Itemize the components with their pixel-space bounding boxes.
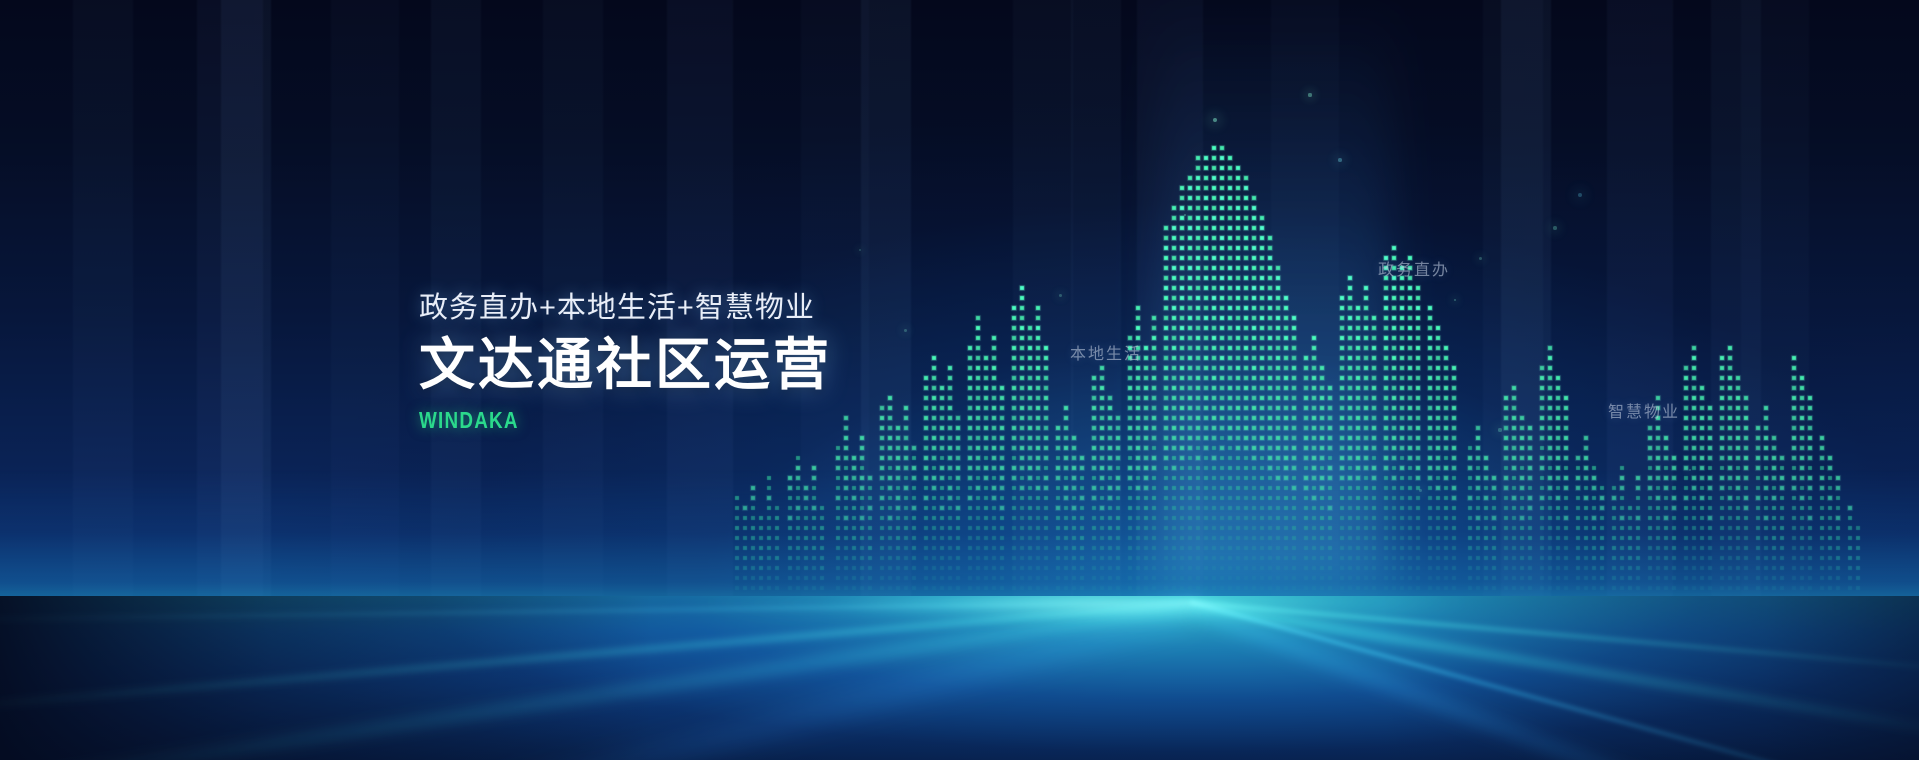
- perspective-floor: [0, 596, 1919, 760]
- floating-label-2: 智慧物业: [1608, 398, 1680, 422]
- floor-vignette: [0, 596, 1919, 760]
- page-title: 文达通社区运营: [419, 332, 832, 398]
- floating-label-1: 政务直办: [1378, 256, 1450, 280]
- kicker-text: 政务直办+本地生活+智慧物业: [419, 290, 832, 326]
- brand-wordmark: WINDAKA: [419, 407, 758, 434]
- headline-block: 政务直办+本地生活+智慧物业 文达通社区运营 WINDAKA: [419, 290, 832, 434]
- floating-label-0: 本地生活: [1070, 340, 1142, 364]
- tower-glow: [1160, 0, 1390, 620]
- hero-banner: 本地生活政务直办智慧物业 政务直办+本地生活+智慧物业 文达通社区运营 WIND…: [0, 0, 1919, 760]
